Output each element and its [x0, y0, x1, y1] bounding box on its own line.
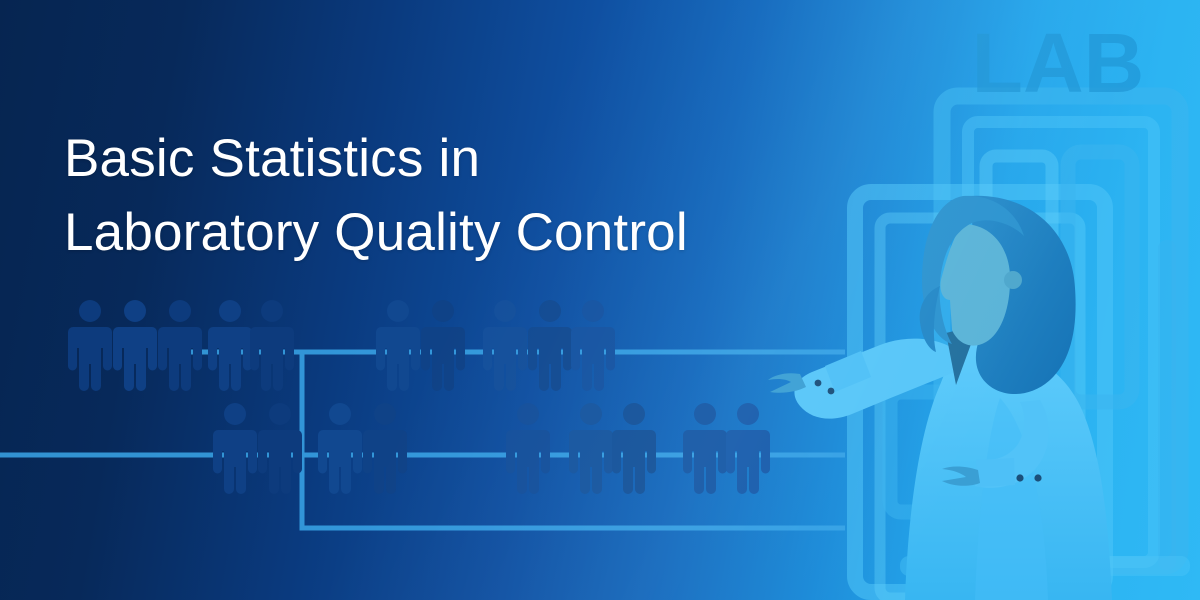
title-line-1: Basic Statistics in — [64, 122, 884, 196]
cuff-button-lower-1 — [1016, 474, 1023, 481]
cuff-button-raised-1 — [815, 380, 822, 387]
banner-title: Basic Statistics in Laboratory Quality C… — [64, 122, 884, 270]
scientist-ear — [1004, 271, 1022, 289]
lab-coat-cuff-lower — [976, 458, 1015, 487]
scientist-illustration — [0, 0, 1200, 600]
course-banner: LAB — [0, 0, 1200, 600]
cuff-button-raised-2 — [828, 388, 835, 395]
cuff-button-lower-2 — [1034, 474, 1041, 481]
title-line-2: Laboratory Quality Control — [64, 196, 884, 270]
